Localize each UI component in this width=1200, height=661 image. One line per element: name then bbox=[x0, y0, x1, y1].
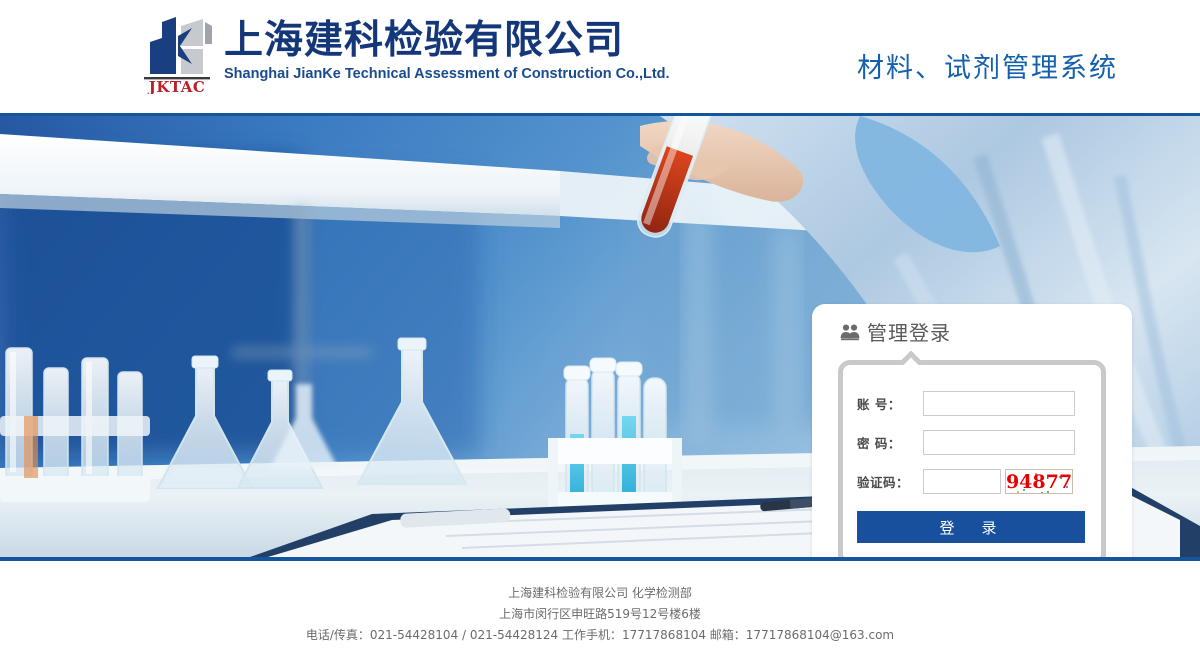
captcha-code: 94877 bbox=[1006, 470, 1072, 493]
system-title: 材料、试剂管理系统 bbox=[857, 46, 1118, 85]
password-label: 密 码： bbox=[857, 433, 923, 452]
svg-text:JKTAC: JKTAC bbox=[147, 78, 206, 94]
hero-banner: 管理登录 账 号： 密 码： 验证码： bbox=[0, 113, 1200, 561]
company-name-en: Shanghai JianKe Technical Assessment of … bbox=[224, 65, 670, 83]
jktac-building-logo-icon: JKTAC bbox=[142, 16, 216, 94]
password-input[interactable] bbox=[923, 430, 1075, 455]
login-panel-title-text: 管理登录 bbox=[867, 317, 951, 346]
account-label: 账 号： bbox=[857, 394, 923, 413]
login-card: 管理登录 账 号： 密 码： 验证码： bbox=[812, 304, 1132, 561]
brand-lockup: JKTAC 上海建科检验有限公司 Shanghai JianKe Technic… bbox=[142, 16, 670, 94]
callout-notch bbox=[899, 351, 925, 365]
footer-address: 上海市闵行区申旺路519号12号楼6楼 bbox=[0, 604, 1200, 625]
footer-contact: 电话/传真：021-54428104 / 021-54428124 工作手机：1… bbox=[0, 625, 1200, 646]
account-input[interactable] bbox=[923, 391, 1075, 416]
users-group-icon bbox=[840, 323, 860, 341]
login-panel-title: 管理登录 bbox=[840, 317, 951, 346]
login-page: JKTAC 上海建科检验有限公司 Shanghai JianKe Technic… bbox=[0, 0, 1200, 661]
login-submit-button[interactable]: 登 录 bbox=[857, 511, 1085, 543]
footer-company: 上海建科检验有限公司 化学检测部 bbox=[0, 583, 1200, 604]
account-row: 账 号： bbox=[857, 391, 1075, 416]
captcha-image[interactable]: 94877 bbox=[1005, 469, 1073, 494]
company-name-cn: 上海建科检验有限公司 bbox=[224, 18, 670, 64]
captcha-input[interactable] bbox=[923, 469, 1001, 494]
page-footer: 上海建科检验有限公司 化学检测部 上海市闵行区申旺路519号12号楼6楼 电话/… bbox=[0, 561, 1200, 661]
page-header: JKTAC 上海建科检验有限公司 Shanghai JianKe Technic… bbox=[0, 0, 1200, 113]
login-form-box: 账 号： 密 码： 验证码： bbox=[838, 360, 1106, 561]
login-form: 账 号： 密 码： 验证码： bbox=[843, 365, 1101, 561]
captcha-row: 验证码： bbox=[857, 469, 1073, 494]
captcha-label: 验证码： bbox=[857, 472, 923, 491]
password-row: 密 码： bbox=[857, 430, 1075, 455]
